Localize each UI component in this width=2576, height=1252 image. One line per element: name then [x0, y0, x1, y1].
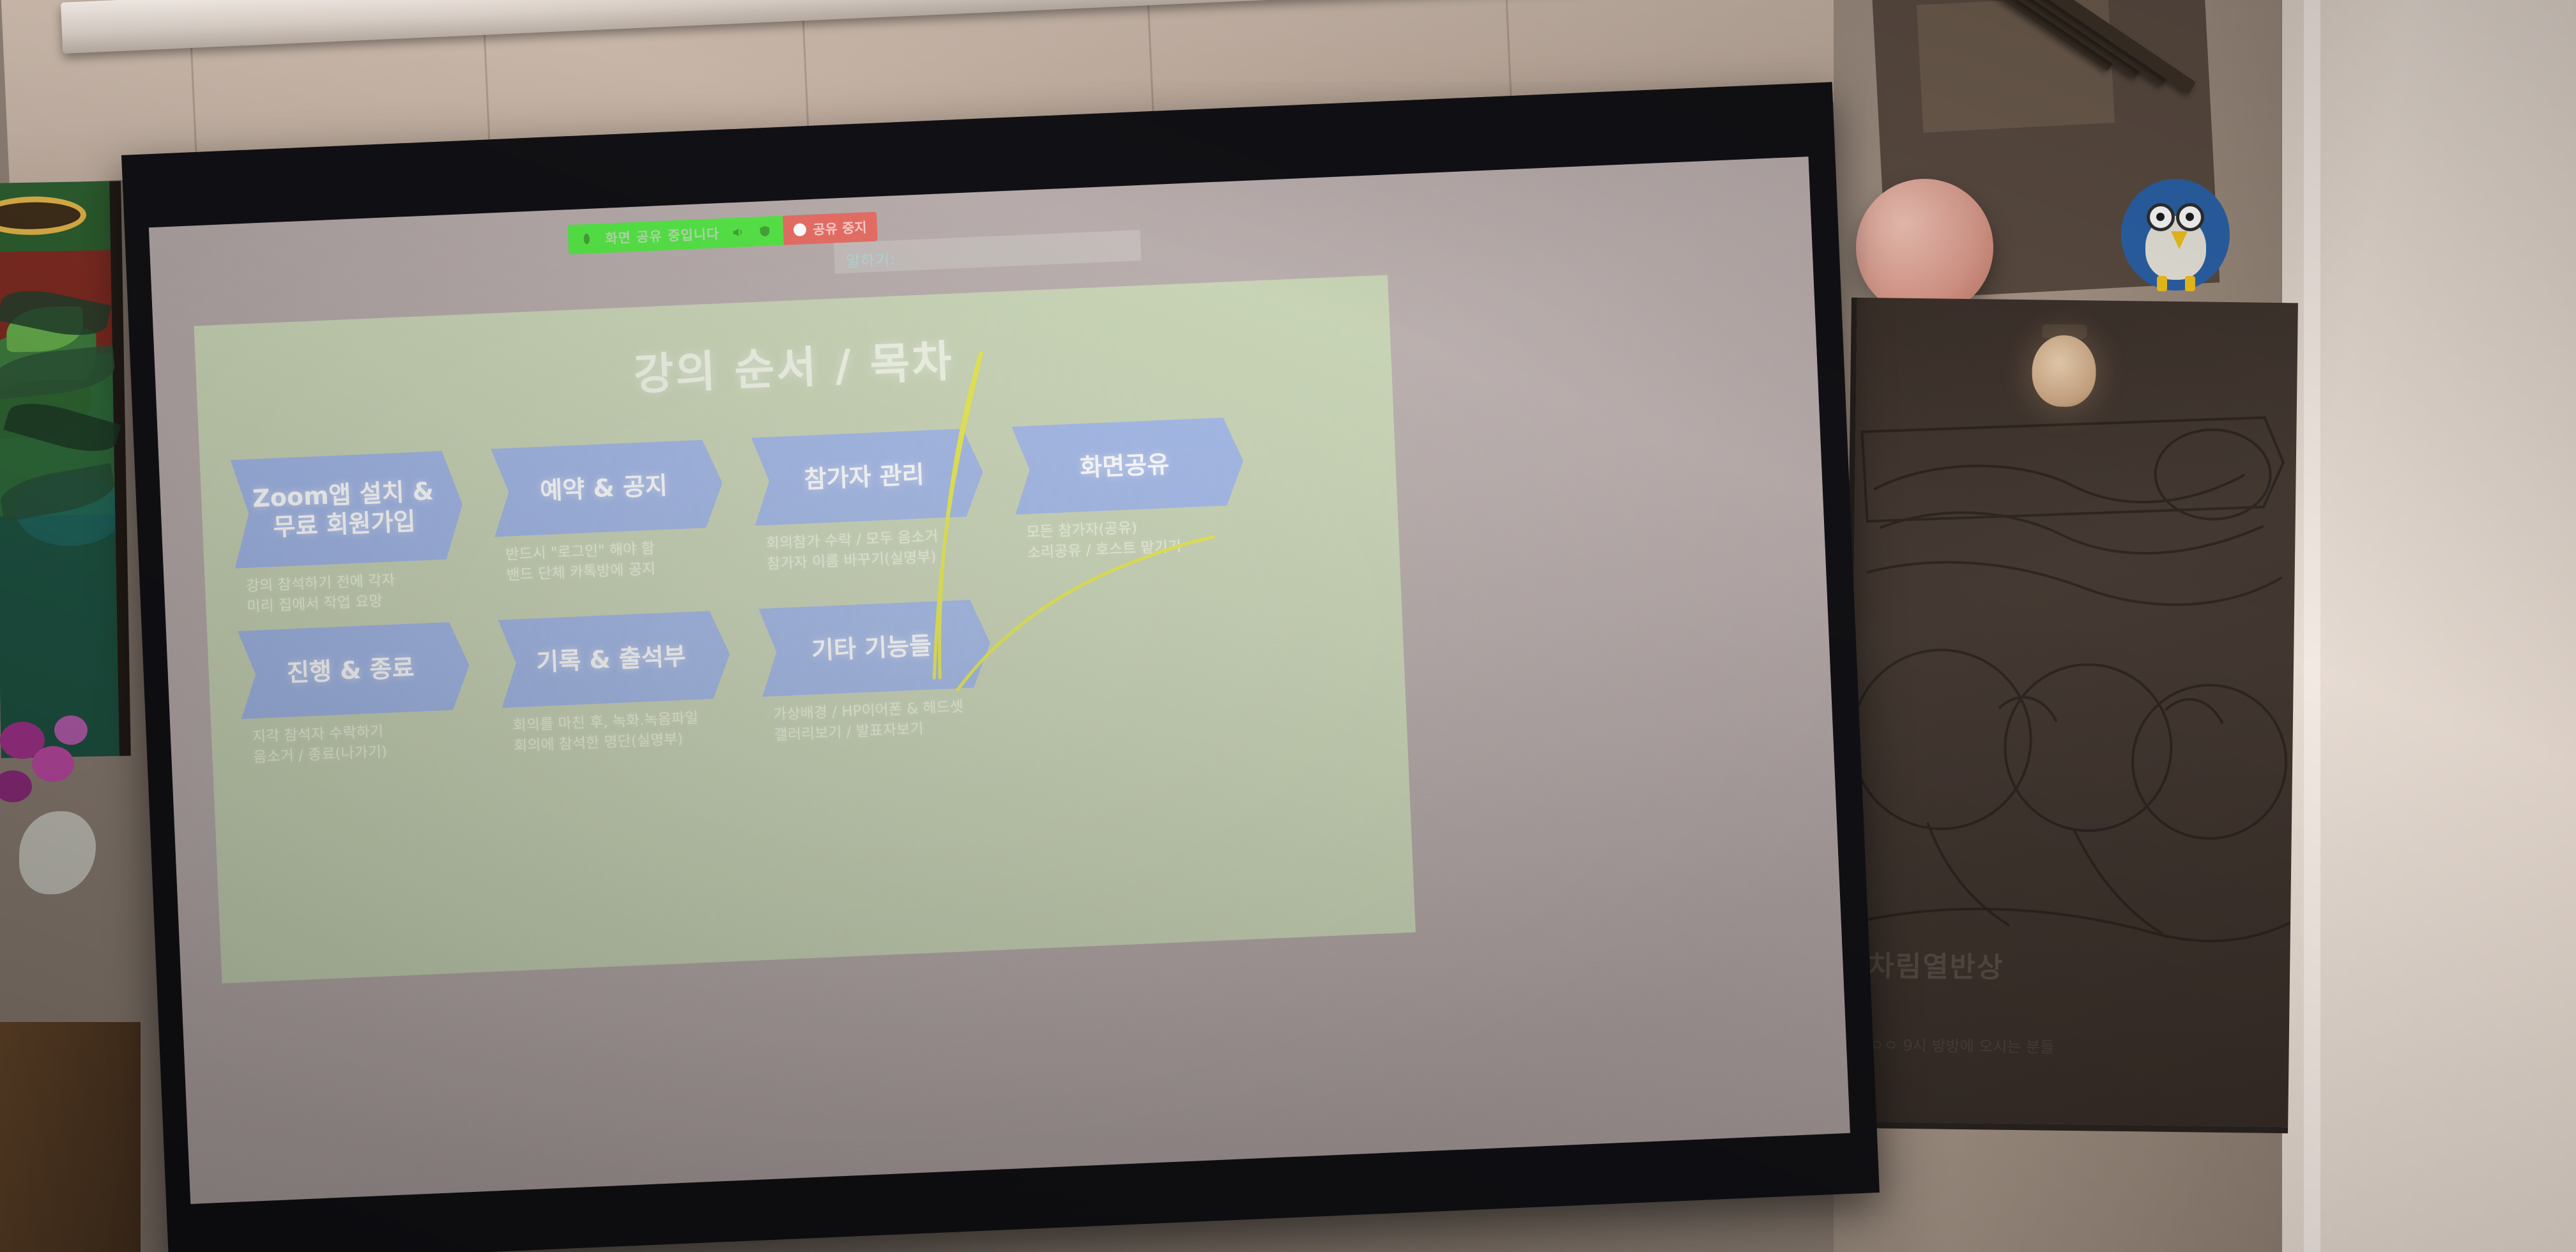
slide-row-1: Zoom앱 설치 & 무료 회원가입 강의 참석하기 전에 각자 미리 집에서 …	[231, 416, 1248, 618]
slide-item-screen-share[interactable]: 화면공유 모든 참가자(공유) 소리공유 / 호스트 맡기기	[1011, 416, 1248, 584]
chevron-shape: 기록 & 출석부	[498, 610, 732, 708]
slide-item-zoom-install[interactable]: Zoom앱 설치 & 무료 회원가입 강의 참석하기 전에 각자 미리 집에서 …	[231, 450, 467, 618]
dancheong-oval	[0, 195, 87, 236]
panel-caption: 차림열반상	[1868, 943, 2265, 989]
speaking-label: 말하기:	[845, 247, 896, 271]
chevron-label: 진행 & 종료	[267, 652, 441, 689]
slide-title: 강의 순서 / 목차	[195, 307, 1392, 421]
owl-eye-left	[2147, 203, 2175, 231]
chevron-label: 기타 기능들	[792, 630, 959, 666]
chevron-shape: 화면공유	[1011, 416, 1245, 514]
potted-plant	[0, 268, 134, 715]
item-caption: 강의 참석하기 전에 각자 미리 집에서 작업 요망	[235, 568, 466, 618]
room-background: 차림열반상 ㅇㅇ 9시 방방에 오시는 분들	[0, 0, 2576, 1252]
flower-arrangement	[0, 715, 128, 926]
sharing-status-chip: 화면 공유 중입니다	[567, 216, 784, 254]
owl-beak	[2171, 231, 2188, 249]
item-caption: 모든 참가자(공유) 소리공유 / 호스트 맡기기	[1016, 514, 1247, 564]
zoom-share-toolbar[interactable]: 화면 공유 중입니다 공유 중지	[567, 208, 878, 259]
wall-display-panel: 차림열반상 ㅇㅇ 9시 방방에 오시는 분들	[1841, 298, 2298, 1133]
chevron-shape: 기타 기능들	[758, 599, 992, 697]
stop-share-button[interactable]: 공유 중지	[783, 212, 877, 245]
projector-screen: 화면 공유 중입니다 공유 중지 말하기: 강의	[121, 82, 1880, 1252]
owl-foot-right	[2185, 276, 2195, 291]
record-dot-icon	[793, 223, 807, 236]
shield-icon[interactable]	[756, 224, 774, 239]
slide-item-participant-mgmt[interactable]: 참가자 관리 회의참가 수락 / 모두 음소거 참가자 이름 바꾸기(실명부)	[751, 428, 988, 596]
zoom-logo-icon	[578, 231, 595, 246]
chevron-shape: 예약 & 공지	[491, 439, 724, 537]
item-caption: 지각 참석자 수락하기 음소거 / 종료(나가기)	[242, 718, 473, 768]
item-caption: 반드시 "로그인" 해야 함 밴드 단체 카톡방에 공지	[495, 536, 726, 586]
owl-foot-left	[2157, 276, 2167, 291]
right-wall	[2282, 0, 2576, 1252]
slide-item-record-attendance[interactable]: 기록 & 출석부 회의를 마친 후, 녹화.녹음파일 회의에 참석한 명단(실명…	[498, 610, 734, 758]
chevron-shape: Zoom앱 설치 & 무료 회원가입	[231, 450, 465, 569]
panel-line-drawing	[1847, 298, 2298, 1127]
chevron-label: Zoom앱 설치 & 무료 회원가입	[231, 475, 464, 544]
chevron-label: 기록 & 출석부	[516, 640, 713, 678]
slide-item-reserve-notice[interactable]: 예약 & 공지 반드시 "로그인" 해야 함 밴드 단체 카톡방에 공지	[491, 439, 727, 607]
owl-eye-right	[2176, 203, 2204, 231]
owl-icon	[2121, 179, 2230, 291]
item-caption: 가상배경 / HP이어폰 & 헤드셋 갤러리보기 / 발표자보기	[763, 696, 994, 746]
chevron-shape: 참가자 관리	[751, 428, 985, 526]
chevron-label: 참가자 관리	[785, 459, 952, 495]
sharing-status-text: 화면 공유 중입니다	[605, 224, 720, 248]
screen-surface: 화면 공유 중입니다 공유 중지 말하기: 강의	[149, 156, 1850, 1204]
item-caption: 회의참가 수락 / 모두 음소거 참가자 이름 바꾸기(실명부)	[755, 525, 986, 576]
chevron-label: 예약 & 공지	[520, 469, 694, 507]
presentation-slide: 강의 순서 / 목차 Zoom앱 설치 & 무료 회원가입 강의 참석하기 전에…	[194, 275, 1416, 983]
stop-share-label: 공유 중지	[812, 217, 867, 239]
wall-corner-edge	[2304, 0, 2320, 1252]
balloon-sphere	[1856, 179, 1993, 316]
speaker-icon[interactable]	[730, 225, 747, 240]
slide-row-2: 진행 & 종료 지각 참석자 수락하기 음소거 / 종료(나가기) 기록 & 출…	[238, 599, 994, 769]
item-caption: 회의를 마친 후, 녹화.녹음파일 회의에 참석한 명단(실명부)	[502, 707, 733, 758]
chevron-label: 화면공유	[1060, 448, 1197, 483]
chevron-shape: 진행 & 종료	[238, 622, 471, 719]
wooden-furniture	[0, 1022, 141, 1252]
slide-item-run-end[interactable]: 진행 & 종료 지각 참석자 수락하기 음소거 / 종료(나가기)	[238, 622, 473, 769]
slide-item-other-features[interactable]: 기타 기능들 가상배경 / HP이어폰 & 헤드셋 갤러리보기 / 발표자보기	[758, 599, 994, 747]
